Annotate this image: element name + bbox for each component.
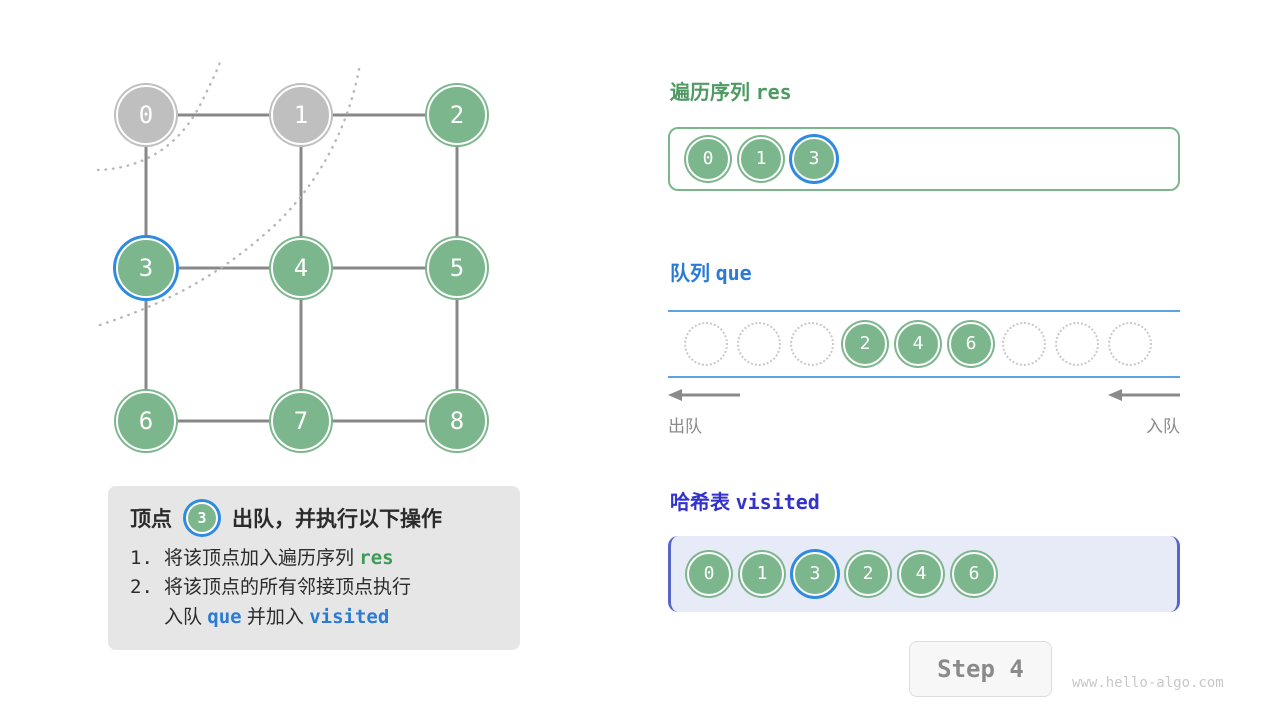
graph-vertex-5[interactable]: 5 [427, 238, 487, 298]
caption-item-2-continued: 入队 que 并加入 visited [108, 603, 520, 632]
res-item-0: 0 [686, 137, 730, 181]
visited-item-1: 1 [740, 552, 784, 596]
caption-head-suffix: 出队，并执行以下操作 [232, 503, 442, 533]
caption-head-prefix: 顶点 [130, 503, 172, 533]
visited-title-code: visited [736, 490, 820, 514]
caption-item-1-text: 将该顶点加入遍历序列 res [164, 544, 394, 573]
graph-vertex-2[interactable]: 2 [427, 85, 487, 145]
queue-section-title: 队列 que [670, 257, 752, 286]
queue-slot-empty-6 [1002, 322, 1046, 366]
graph-vertex-0[interactable]: 0 [116, 85, 176, 145]
queue-arrows: 出队 入队 [668, 384, 1180, 436]
caption-item-2-indent [130, 603, 164, 632]
queue-slot-empty-7 [1055, 322, 1099, 366]
queue-title-code: que [716, 261, 752, 285]
watermark: www.hello-algo.com [1072, 675, 1224, 691]
graph-panel: 012345678 [0, 0, 620, 500]
queue-title-cn: 队列 [670, 263, 710, 285]
step-badge: Step 4 [909, 641, 1052, 697]
res-item-2: 3 [792, 137, 836, 181]
caption-line3-middle: 并加入 [247, 607, 304, 628]
visited-container: 013246 [668, 536, 1180, 612]
caption-vertex-node: 3 [186, 502, 218, 534]
caption-item-2: 2. 将该顶点的所有邻接顶点执行 [108, 573, 520, 602]
dequeue-arrow-icon [668, 389, 740, 401]
caption-item-1-text-before: 将该顶点加入遍历序列 [164, 548, 354, 569]
res-title-code: res [756, 80, 792, 104]
visited-item-0: 0 [687, 552, 731, 596]
visited-item-3: 2 [846, 552, 890, 596]
graph-vertex-8[interactable]: 8 [427, 391, 487, 451]
caption-line3-code-que: que [207, 606, 241, 628]
queue-container: 246 [668, 310, 1180, 378]
queue-slot-empty-8 [1108, 322, 1152, 366]
graph-vertex-7[interactable]: 7 [271, 391, 331, 451]
graph-vertex-4[interactable]: 4 [271, 238, 331, 298]
enqueue-arrow-icon [1108, 389, 1180, 401]
queue-slot-empty-0 [684, 322, 728, 366]
visited-item-4: 4 [899, 552, 943, 596]
caption-item-1-code: res [359, 547, 393, 569]
res-container: 013 [668, 127, 1180, 191]
queue-arrow-svg [668, 384, 1180, 408]
caption-item-1-number: 1. [130, 544, 164, 573]
res-title-cn: 遍历序列 [670, 82, 750, 104]
res-section-title: 遍历序列 res [670, 76, 792, 105]
visited-item-5: 6 [952, 552, 996, 596]
caption-item-2-text: 将该顶点的所有邻接顶点执行 [164, 573, 411, 602]
res-item-1: 1 [739, 137, 783, 181]
graph-vertex-1[interactable]: 1 [271, 85, 331, 145]
graph-vertex-3[interactable]: 3 [116, 238, 176, 298]
caption-item-1: 1. 将该顶点加入遍历序列 res [108, 544, 520, 573]
visited-item-2: 3 [793, 552, 837, 596]
caption-line3-code-visited: visited [309, 606, 389, 628]
queue-item-5: 6 [949, 322, 993, 366]
caption-item-2-number: 2. [130, 573, 164, 602]
queue-item-3: 2 [843, 322, 887, 366]
caption-line3: 入队 que 并加入 visited [164, 603, 389, 632]
queue-slot-empty-2 [790, 322, 834, 366]
visited-section-title: 哈希表 visited [670, 486, 820, 515]
graph-vertex-6[interactable]: 6 [116, 391, 176, 451]
enqueue-label: 入队 [1146, 412, 1180, 437]
visited-title-cn: 哈希表 [670, 492, 730, 514]
caption-line3-before: 入队 [164, 607, 202, 628]
queue-item-4: 4 [896, 322, 940, 366]
caption-box: 顶点 3 出队，并执行以下操作 1. 将该顶点加入遍历序列 res 2. 将该顶… [108, 486, 520, 650]
queue-slot-empty-1 [737, 322, 781, 366]
caption-headline: 顶点 3 出队，并执行以下操作 [108, 502, 520, 534]
dequeue-label: 出队 [668, 412, 702, 437]
